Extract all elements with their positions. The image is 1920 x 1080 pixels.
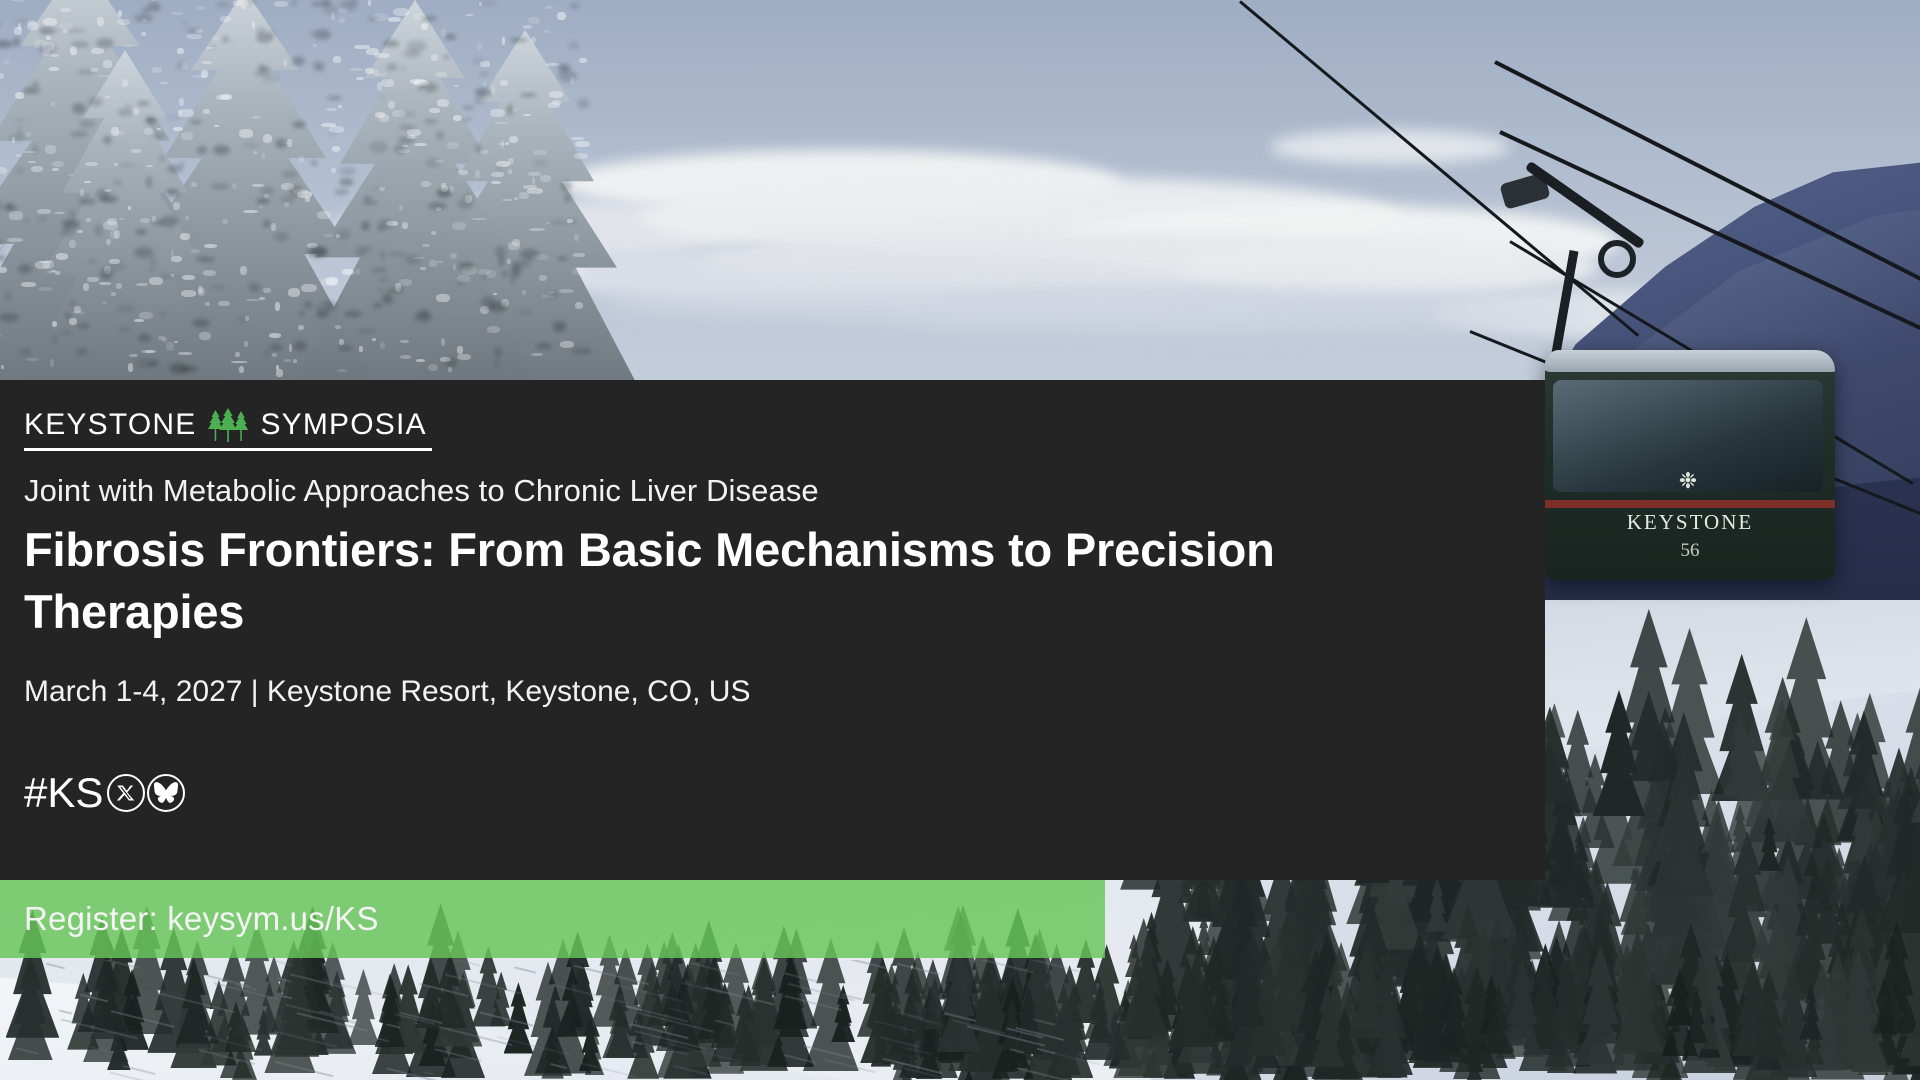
branch-shadow	[231, 40, 237, 43]
snow-fleck	[416, 359, 425, 362]
snow-fleck	[269, 333, 281, 338]
branch-shadow	[398, 137, 415, 143]
snow-fleck	[466, 14, 473, 16]
branch-shadow	[457, 281, 464, 285]
branch-shadow	[149, 268, 155, 272]
branch-shadow	[275, 139, 287, 148]
branch-shadow	[482, 275, 487, 280]
branch-shadow	[269, 344, 283, 351]
snow-fleck	[480, 150, 489, 154]
snow-fleck	[222, 219, 228, 224]
snow-fleck	[393, 8, 409, 16]
snow-fleck	[317, 211, 331, 219]
branch-shadow	[383, 40, 399, 47]
branch-shadow	[76, 348, 88, 355]
branch-shadow	[0, 40, 13, 48]
cloud	[880, 300, 1580, 334]
branch-shadow	[33, 145, 37, 154]
snow-fleck	[1, 365, 4, 369]
branch-shadow	[264, 349, 269, 359]
branch-shadow	[18, 349, 26, 354]
snow-fleck	[414, 143, 427, 146]
snow-fleck	[166, 342, 174, 351]
snow-fleck	[355, 268, 360, 275]
snow-fleck	[453, 264, 456, 270]
snow-fleck	[437, 261, 443, 263]
snow-fleck	[514, 197, 518, 200]
branch-shadow	[186, 29, 199, 32]
branch-shadow	[536, 343, 552, 349]
snow-fleck	[372, 338, 376, 341]
snow-fleck	[205, 302, 210, 306]
snow-fleck	[379, 114, 389, 122]
snow-fleck	[490, 109, 505, 117]
branch-shadow	[176, 61, 186, 70]
snow-fleck	[431, 231, 436, 235]
snow-fleck	[51, 102, 55, 106]
branch-shadow	[118, 163, 136, 168]
branch-shadow	[77, 70, 95, 74]
bluesky-icon[interactable]	[147, 774, 185, 812]
snow-fleck	[483, 82, 486, 86]
snow-fleck	[450, 253, 457, 259]
snow-covered-foreground-trees	[0, 0, 600, 390]
branch-shadow	[458, 262, 474, 270]
branch-shadow	[183, 21, 187, 26]
branch-shadow	[237, 316, 246, 322]
event-hashtag: #KS	[24, 770, 103, 816]
snow-fleck	[254, 151, 257, 154]
snow-fleck	[454, 85, 459, 87]
evergreen-tree	[937, 946, 982, 1052]
snow-fleck	[134, 319, 144, 322]
branch-shadow	[520, 93, 537, 97]
snow-fleck	[359, 346, 363, 352]
snow-fleck	[116, 283, 122, 289]
branch-shadow	[550, 221, 568, 224]
branch-shadow	[361, 221, 370, 231]
snow-fleck	[259, 297, 265, 300]
branch-shadow	[339, 178, 354, 186]
snow-fleck	[0, 73, 4, 79]
branch-shadow	[169, 363, 188, 374]
snow-fleck	[335, 325, 341, 329]
gondola-resort-name: KEYSTONE	[1545, 510, 1835, 535]
branch-shadow	[242, 143, 259, 148]
branch-shadow	[147, 2, 161, 12]
branch-shadow	[70, 301, 75, 306]
branch-shadow	[369, 141, 388, 153]
snow-fleck	[141, 32, 146, 36]
snow-fleck	[475, 170, 480, 178]
snow-fleck	[452, 222, 466, 230]
branch-shadow	[571, 219, 576, 225]
branch-shadow	[311, 246, 328, 257]
snow-fleck	[69, 318, 77, 325]
snow-fleck	[559, 289, 574, 293]
branch-shadow	[39, 27, 55, 35]
snow-fleck	[203, 270, 216, 276]
gondola-roof	[1545, 350, 1835, 372]
snow-fleck	[136, 283, 148, 286]
snow-fleck	[86, 218, 91, 222]
branch-shadow	[386, 63, 397, 71]
snow-fleck	[204, 244, 217, 248]
snow-fleck	[458, 170, 468, 175]
snow-fleck	[339, 339, 344, 345]
branch-shadow	[382, 295, 394, 305]
snow-fleck	[548, 102, 560, 108]
snow-fleck	[198, 288, 205, 296]
snow-fleck	[293, 359, 297, 363]
snow-fleck	[252, 21, 255, 29]
branch-shadow	[142, 8, 149, 13]
snow-fleck	[402, 222, 408, 229]
snow-fleck	[289, 344, 292, 352]
page-title: Fibrosis Frontiers: From Basic Mechanism…	[24, 519, 1344, 643]
branch-shadow	[380, 95, 385, 99]
snow-fleck	[0, 167, 7, 174]
social-row: #KS	[24, 770, 1521, 816]
branch-shadow	[407, 40, 427, 52]
snow-fleck	[69, 240, 76, 248]
branch-shadow	[274, 232, 289, 242]
snow-fleck	[103, 60, 112, 68]
snow-fleck	[333, 56, 341, 63]
branch-shadow	[495, 246, 506, 258]
snow-fleck	[523, 114, 531, 116]
snow-fleck	[26, 358, 39, 361]
snow-fleck	[491, 172, 504, 177]
branch-shadow	[117, 109, 133, 116]
branch-shadow	[289, 185, 303, 197]
branch-shadow	[67, 28, 85, 33]
branch-shadow	[210, 286, 227, 289]
snow-fleck	[157, 128, 161, 130]
logo-word-keystone: KEYSTONE	[24, 408, 196, 442]
snow-fleck	[429, 108, 440, 113]
snow-fleck	[180, 233, 190, 240]
branch-shadow	[572, 347, 592, 355]
snow-fleck	[149, 277, 163, 285]
snow-fleck	[107, 218, 117, 225]
branch-shadow	[213, 145, 230, 155]
branch-shadow	[510, 274, 516, 284]
snow-fleck	[373, 69, 379, 76]
foreground-evergreens	[0, 940, 1920, 1080]
branch-shadow	[418, 82, 438, 93]
snow-fleck	[80, 189, 84, 196]
snow-fleck	[545, 6, 553, 9]
branch-shadow	[399, 283, 404, 286]
snow-fleck	[283, 59, 287, 67]
snow-fleck	[494, 122, 508, 124]
branch-shadow	[150, 255, 156, 267]
snow-fleck	[102, 302, 107, 304]
snow-fleck	[182, 275, 195, 280]
branch-shadow	[137, 101, 150, 106]
branch-shadow	[475, 88, 491, 97]
branch-shadow	[444, 55, 449, 59]
snow-fleck	[152, 67, 162, 73]
branch-shadow	[195, 257, 215, 262]
branch-shadow	[568, 41, 579, 50]
snow-fleck	[140, 218, 150, 223]
branch-shadow	[570, 3, 580, 9]
snow-fleck	[220, 94, 232, 100]
snow-fleck	[491, 86, 495, 94]
branch-shadow	[210, 46, 216, 49]
snow-fleck	[436, 294, 450, 302]
branch-shadow	[327, 96, 342, 100]
branch-shadow	[146, 176, 152, 188]
branch-shadow	[134, 14, 153, 22]
branch-shadow	[472, 59, 485, 63]
branch-shadow	[268, 29, 275, 40]
snow-fleck	[73, 311, 85, 314]
snow-fleck	[263, 288, 271, 293]
branch-shadow	[352, 0, 358, 5]
branch-shadow	[336, 229, 351, 240]
branch-shadow	[338, 346, 353, 351]
snow-fleck	[437, 99, 449, 107]
branch-shadow	[461, 118, 473, 121]
branch-shadow	[400, 112, 416, 116]
snow-fleck	[271, 223, 276, 231]
snow-fleck	[337, 369, 347, 372]
branch-shadow	[103, 136, 112, 144]
snow-fleck	[533, 150, 547, 155]
snow-fleck	[16, 154, 21, 157]
branch-shadow	[557, 256, 568, 261]
snow-fleck	[487, 326, 500, 333]
branch-shadow	[145, 116, 156, 125]
snow-fleck	[331, 168, 336, 173]
snow-fleck	[12, 0, 26, 2]
snow-fleck	[99, 282, 111, 285]
event-date-location: March 1-4, 2027 | Keystone Resort, Keyst…	[24, 674, 1521, 710]
branch-shadow	[88, 260, 97, 263]
snow-fleck	[129, 354, 138, 357]
x-glyph	[116, 783, 136, 803]
branch-shadow	[507, 104, 513, 115]
snow-fleck	[97, 17, 104, 26]
snow-fleck	[500, 80, 508, 86]
snow-fleck	[400, 355, 411, 359]
snow-fleck	[447, 142, 459, 149]
branch-shadow	[26, 349, 30, 356]
snow-fleck	[560, 341, 574, 348]
snow-fleck	[338, 105, 342, 108]
branch-shadow	[558, 70, 577, 82]
branch-shadow	[138, 334, 151, 342]
branch-shadow	[159, 312, 167, 316]
branch-shadow	[299, 311, 305, 316]
snow-fleck	[56, 253, 68, 260]
branch-shadow	[388, 252, 407, 256]
snow-fleck	[131, 149, 141, 153]
snow-fleck	[457, 346, 463, 354]
snow-fleck	[522, 290, 526, 295]
branch-shadow	[371, 187, 382, 190]
snow-fleck	[540, 175, 551, 182]
branch-shadow	[533, 160, 548, 166]
branch-shadow	[553, 321, 566, 332]
snow-fleck	[52, 168, 59, 171]
snow-fleck	[214, 125, 219, 127]
snow-fleck	[199, 332, 211, 340]
snow-fleck	[240, 266, 247, 275]
snow-fleck	[111, 292, 116, 296]
snow-fleck	[508, 242, 520, 250]
register-bar[interactable]: Register: keysym.us/KS	[0, 880, 1105, 958]
branch-shadow	[282, 170, 298, 178]
branch-shadow	[494, 358, 500, 368]
x-twitter-icon[interactable]	[107, 774, 145, 812]
snow-fleck	[274, 1, 288, 7]
snow-fleck	[421, 23, 428, 30]
snow-fleck	[428, 364, 438, 371]
snow-fleck	[332, 146, 340, 152]
snow-fleck	[181, 132, 193, 140]
snow-fleck	[0, 267, 7, 273]
branch-shadow	[79, 198, 96, 205]
snow-fleck	[178, 352, 192, 355]
branch-shadow	[260, 187, 275, 195]
snow-fleck	[356, 77, 364, 80]
keystone-symposia-logo[interactable]: KEYSTONE SYMPOSIA	[24, 408, 432, 451]
snow-fleck	[117, 19, 130, 25]
snow-fleck	[55, 271, 60, 275]
snow-fleck	[574, 153, 588, 159]
branch-shadow	[377, 225, 384, 232]
snow-fleck	[299, 156, 304, 163]
branch-shadow	[405, 255, 421, 265]
snow-fleck	[339, 18, 345, 23]
branch-shadow	[256, 27, 266, 34]
branch-shadow	[96, 38, 114, 48]
branch-shadow	[72, 103, 86, 114]
snow-fleck	[218, 301, 230, 306]
snow-fleck	[7, 238, 23, 242]
evergreen-tree	[1548, 947, 1584, 1033]
snow-fleck	[18, 23, 21, 30]
snow-fleck	[477, 43, 482, 50]
branch-shadow	[5, 291, 12, 302]
snow-fleck	[301, 284, 317, 292]
branch-shadow	[118, 326, 131, 333]
branch-shadow	[329, 131, 338, 135]
branch-shadow	[216, 2, 230, 8]
snow-fleck	[111, 127, 119, 136]
content-panel: KEYSTONE SYMPOSIA Joint with Metabolic A…	[0, 380, 1545, 880]
branch-shadow	[197, 146, 207, 154]
snow-fleck	[529, 228, 545, 231]
branch-shadow	[324, 300, 337, 311]
snow-fleck	[91, 48, 104, 54]
snow-fleck	[493, 293, 497, 295]
branch-shadow	[180, 161, 184, 168]
snow-fleck	[38, 287, 53, 291]
snow-fleck	[574, 234, 579, 241]
branch-shadow	[517, 310, 533, 314]
branch-shadow	[291, 0, 297, 7]
snow-fleck	[50, 359, 54, 367]
snow-fleck	[531, 353, 543, 356]
snow-fleck	[298, 325, 304, 330]
branch-shadow	[96, 189, 109, 201]
snow-fleck	[276, 369, 283, 377]
branch-shadow	[211, 184, 229, 189]
snow-fleck	[191, 182, 197, 187]
snow-fleck	[491, 181, 501, 184]
snowflake-icon: ❉	[1675, 468, 1701, 494]
branch-shadow	[560, 181, 572, 191]
branch-shadow	[488, 302, 507, 312]
branch-shadow	[109, 262, 126, 271]
evergreen-tree	[1575, 945, 1626, 1065]
branch-shadow	[256, 198, 270, 204]
snow-fleck	[546, 63, 559, 66]
branch-shadow	[476, 144, 481, 153]
snow-fleck	[52, 161, 64, 167]
snow-fleck	[124, 45, 135, 47]
event-poster: ❉ KEYSTONE 56 KEYSTONE	[0, 0, 1920, 1080]
branch-shadow	[479, 1, 497, 6]
snow-fleck	[179, 98, 184, 106]
branch-shadow	[70, 211, 75, 217]
branch-shadow	[421, 16, 437, 21]
snow-fleck	[313, 44, 317, 47]
snow-fleck	[46, 35, 51, 40]
snow-fleck	[571, 137, 584, 140]
evergreen-tree	[347, 969, 379, 1045]
branch-shadow	[474, 97, 485, 104]
snow-fleck	[349, 68, 363, 71]
branch-shadow	[161, 275, 171, 278]
branch-shadow	[160, 216, 178, 227]
branch-shadow	[445, 34, 456, 40]
logo-word-symposia: SYMPOSIA	[260, 408, 426, 442]
snow-fleck	[50, 54, 59, 57]
snow-fleck	[523, 185, 537, 189]
snow-fleck	[203, 109, 210, 114]
branch-shadow	[37, 217, 48, 221]
snow-fleck	[28, 161, 36, 163]
snow-fleck	[523, 25, 532, 29]
branch-shadow	[356, 329, 375, 333]
branch-shadow	[356, 246, 367, 256]
branch-shadow	[55, 29, 65, 33]
snow-fleck	[374, 53, 390, 58]
snow-fleck	[275, 302, 280, 311]
snow-fleck	[159, 82, 168, 84]
snow-fleck	[246, 299, 259, 301]
branch-shadow	[363, 195, 372, 203]
branch-shadow	[380, 250, 385, 260]
snow-fleck	[244, 341, 248, 347]
branch-shadow	[135, 229, 147, 235]
snow-fleck	[388, 17, 401, 22]
snow-fleck	[98, 75, 110, 77]
snow-fleck	[139, 312, 153, 319]
snow-fleck	[122, 79, 128, 87]
snow-fleck	[388, 101, 395, 109]
cloud	[1270, 130, 1510, 164]
snow-fleck	[252, 116, 260, 119]
snow-fleck	[68, 174, 74, 176]
snow-fleck	[422, 244, 430, 247]
